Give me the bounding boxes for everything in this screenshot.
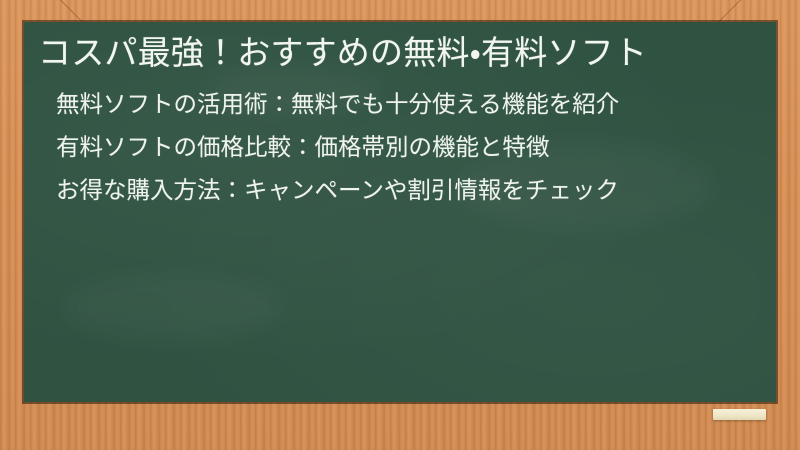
list-item: お得な購入方法：キャンペーンや割引情報をチェック bbox=[56, 175, 754, 206]
list-item: 無料ソフトの活用術：無料でも十分使える機能を紹介 bbox=[56, 89, 754, 120]
chalkboard-panel: コスパ最強！おすすめの無料・有料ソフト 無料ソフトの活用術：無料でも十分使える機… bbox=[24, 22, 776, 402]
chalk-stick bbox=[713, 409, 766, 420]
list-item: 有料ソフトの価格比較：価格帯別の機能と特徴 bbox=[56, 132, 754, 163]
topic-list: 無料ソフトの活用術：無料でも十分使える機能を紹介 有料ソフトの価格比較：価格帯別… bbox=[34, 89, 758, 207]
chalkboard-slide: コスパ最強！おすすめの無料・有料ソフト 無料ソフトの活用術：無料でも十分使える機… bbox=[0, 0, 800, 450]
frame-corner-bottom-left bbox=[0, 402, 74, 450]
page-title: コスパ最強！おすすめの無料・有料ソフト bbox=[34, 32, 758, 75]
board-content: コスパ最強！おすすめの無料・有料ソフト 無料ソフトの活用術：無料でも十分使える機… bbox=[24, 22, 776, 402]
chalkboard-surface: コスパ最強！おすすめの無料・有料ソフト 無料ソフトの活用術：無料でも十分使える機… bbox=[24, 22, 776, 402]
